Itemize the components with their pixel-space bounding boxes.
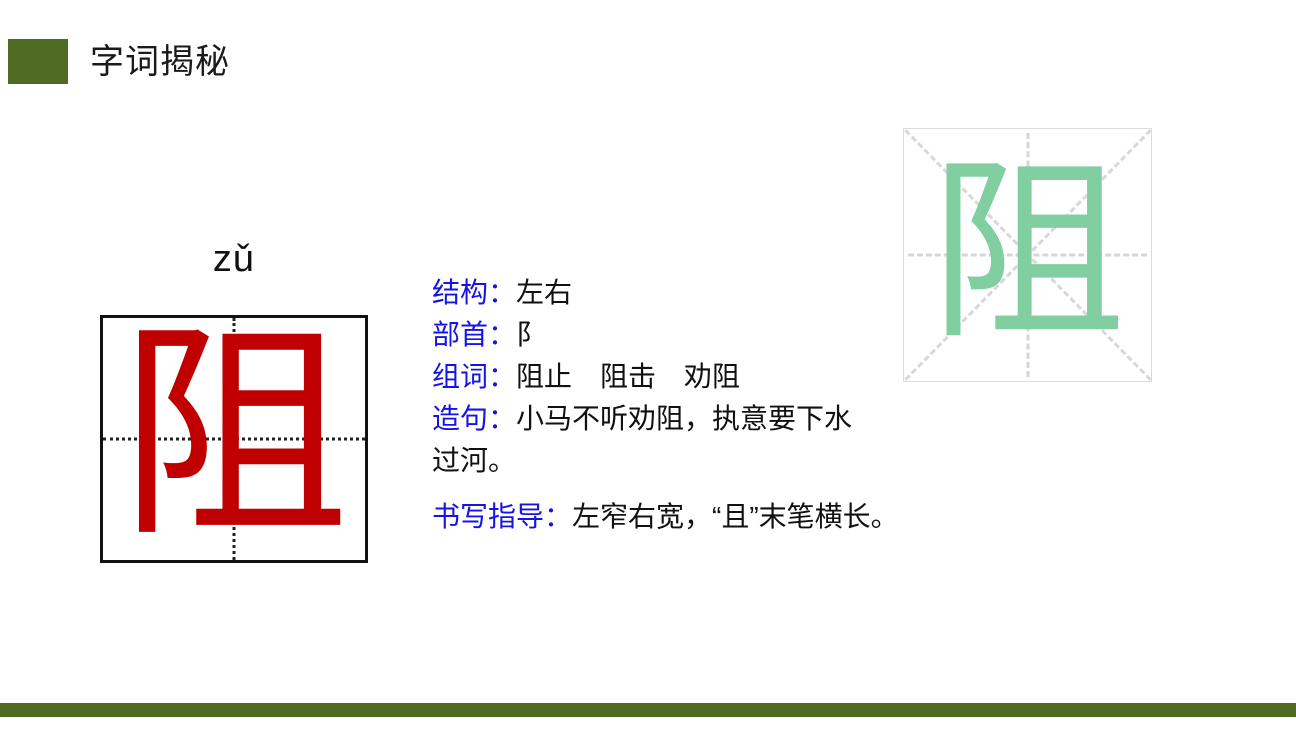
detail-value-words: 阻止 阻击 劝阻	[516, 361, 740, 392]
footer-bar	[0, 703, 1296, 717]
character-details: 结构：左右 部首：阝 组词：阻止 阻击 劝阻 造句：小马不听劝阻，执意要下水过河…	[432, 272, 972, 538]
slide-header: 字词揭秘	[0, 0, 1296, 110]
character-grid-red: 阻	[100, 315, 368, 563]
target-character-red: 阻	[103, 318, 365, 560]
title-accent-bar	[8, 39, 68, 84]
detail-label-structure: 结构：	[432, 277, 516, 308]
detail-label-writing-guide: 书写指导：	[432, 501, 572, 532]
detail-row-sentence: 造句：小马不听劝阻，执意要下水过河。	[432, 398, 862, 482]
page-title: 字词揭秘	[90, 40, 230, 84]
detail-row-writing-guide: 书写指导：左窄右宽，“且”末笔横长。	[432, 496, 972, 538]
detail-label-sentence: 造句：	[432, 403, 516, 434]
detail-label-radical: 部首：	[432, 319, 516, 350]
detail-value-radical: 阝	[516, 319, 544, 350]
detail-label-words: 组词：	[432, 361, 516, 392]
detail-value-structure: 左右	[516, 277, 572, 308]
detail-value-writing-guide: 左窄右宽，“且”末笔横长。	[572, 501, 899, 532]
detail-row-structure: 结构：左右	[432, 272, 972, 314]
detail-row-words: 组词：阻止 阻击 劝阻	[432, 356, 972, 398]
pinyin-label: zǔ	[100, 236, 368, 282]
detail-row-radical: 部首：阝	[432, 314, 972, 356]
